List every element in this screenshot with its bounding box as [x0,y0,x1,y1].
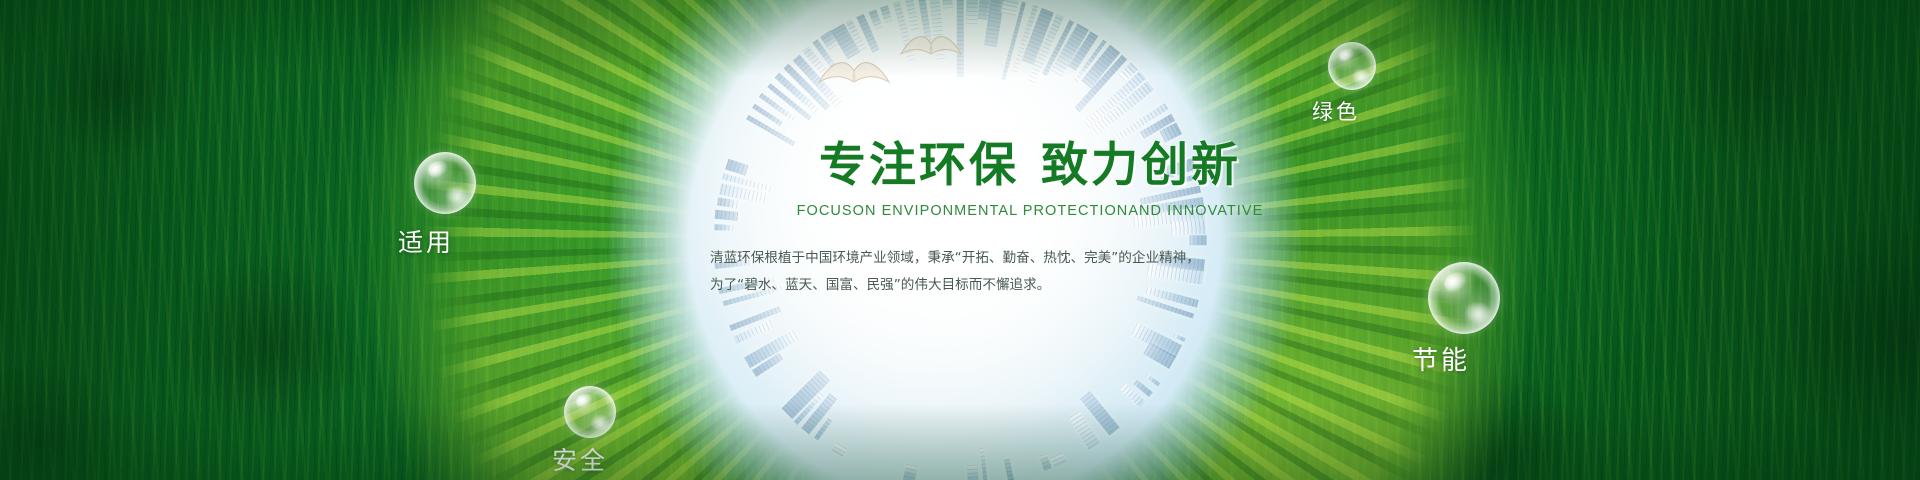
bubble-icon [414,152,476,214]
bird-icon [815,52,893,99]
bird-icon [898,28,964,69]
copy-block: 专注环保致力创新 FOCUSON ENVIPONMENTAL PROTECTIO… [770,140,1290,300]
bubble-icon [1328,42,1376,90]
callout-anquan: 安全 [552,386,616,473]
building-silhouette [966,465,978,480]
description-paragraph: 清蓝环保根植于中国环境产业领域，秉承“开拓、勤奋、热忱、完美”的企业精神， 为了… [710,245,1350,301]
headline-part-2: 致力创新 [1041,138,1241,193]
headline-part-1: 专注环保 [819,138,1019,193]
callout-shiyong: 适用 [398,152,476,255]
callout-label-shiyong: 适用 [398,230,476,255]
callout-label-anquan: 安全 [552,448,616,473]
callout-label-jieneng: 节能 [1412,348,1500,374]
paragraph-line-1: 清蓝环保根植于中国环境产业领域，秉承“开拓、勤奋、热忱、完美”的企业精神， [710,245,1350,273]
paragraph-line-2: 为了“碧水、蓝天、国富、民强”的伟大目标而不懈追求。 [710,272,1350,300]
page-title: 专注环保致力创新 [770,140,1290,193]
callout-label-lvse: 绿色 [1312,102,1376,123]
callout-jieneng: 节能 [1412,262,1500,374]
bubble-icon [564,386,616,438]
hero-banner: 专注环保致力创新 FOCUSON ENVIPONMENTAL PROTECTIO… [0,0,1920,480]
callout-lvse: 绿色 [1312,42,1376,123]
page-subtitle: FOCUSON ENVIPONMENTAL PROTECTIONAND INNO… [770,203,1290,219]
bubble-icon [1428,262,1500,334]
